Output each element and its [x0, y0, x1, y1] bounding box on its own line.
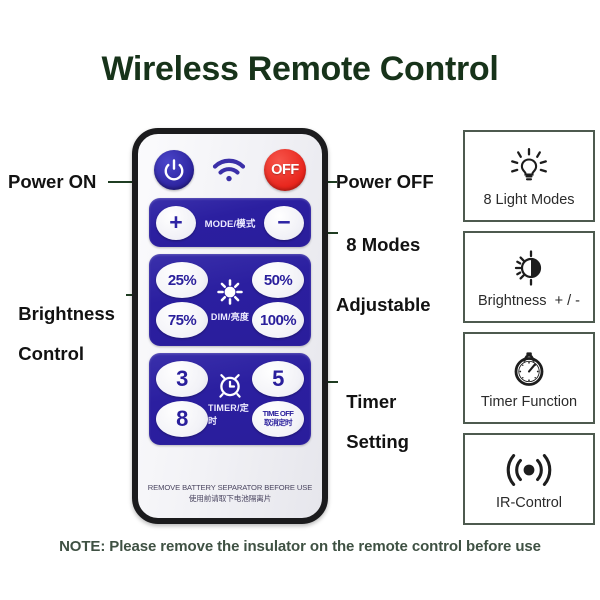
timer-button-8[interactable]: 8: [156, 401, 208, 437]
brightness-button-100[interactable]: 100%: [252, 302, 304, 338]
mode-plus-button[interactable]: +: [156, 206, 196, 240]
feature-card-brightness: Brightness + / -: [463, 231, 595, 323]
power-off-button[interactable]: OFF: [264, 149, 306, 191]
brightness-25-label: 25%: [168, 272, 196, 289]
ir-waves-icon: [505, 446, 553, 494]
remote-footer-line2: 使用前请取下电池隔离片: [189, 494, 271, 503]
mode-panel-label: MODE/模式: [205, 216, 256, 230]
feature-card-light-modes: 8 Light Modes: [463, 130, 595, 222]
callout-timer-line1: Timer: [346, 391, 396, 412]
mode-panel: + MODE/模式 −: [149, 198, 311, 247]
callout-modes-line2: Adjustable: [336, 295, 431, 315]
power-icon: [163, 159, 185, 181]
remote-footer-text: REMOVE BATTERY SEPARATOR BEFORE USE 使用前请…: [138, 482, 322, 504]
brightness-panel: 25%: [149, 254, 311, 346]
stopwatch-icon: [507, 345, 551, 393]
brightness-panel-center: DIM/亮度: [208, 278, 252, 323]
mode-plus-label: +: [169, 213, 182, 231]
time-off-label-line2: 取消定时: [264, 418, 292, 427]
brightness-button-25[interactable]: 25%: [156, 262, 208, 298]
feature-card-timer: Timer Function: [463, 332, 595, 424]
callout-brightness-control: Brightness Control: [8, 284, 115, 364]
brightness-75-label: 75%: [168, 312, 196, 329]
feature-cards: 8 Light Modes Brightness + / -: [463, 130, 595, 534]
half-brightness-icon: [507, 244, 551, 292]
timer-panel-center: TIMER/定时: [208, 371, 252, 427]
timer-button-time-off[interactable]: TIME OFF 取消定时: [252, 401, 304, 437]
remote-control-body: OFF + MODE/模式 − 25%: [132, 128, 328, 524]
time-off-label-block: TIME OFF 取消定时: [263, 410, 294, 427]
remote-footer-line1: REMOVE BATTERY SEPARATOR BEFORE USE: [148, 483, 312, 492]
sun-icon: [215, 278, 245, 308]
callout-power-on: Power ON: [8, 172, 96, 192]
lightbulb-rays-icon: [507, 143, 551, 191]
mode-minus-label: −: [277, 213, 290, 231]
callout-modes-line1: 8 Modes: [346, 234, 420, 255]
feature-card-brightness-label: Brightness + / -: [478, 293, 580, 309]
alarm-clock-icon: [215, 371, 245, 399]
feature-card-ir-control: IR-Control: [463, 433, 595, 525]
power-on-button[interactable]: [154, 150, 194, 190]
feature-card-light-modes-label: 8 Light Modes: [483, 192, 574, 208]
page-title: Wireless Remote Control: [0, 50, 600, 89]
feature-card-ir-control-label: IR-Control: [496, 495, 562, 511]
callout-modes-adjustable: 8 Modes Adjustable: [336, 215, 431, 335]
callout-brightness-line2: Control: [18, 343, 84, 364]
timer-button-5[interactable]: 5: [252, 361, 304, 397]
timer-panel-label: TIMER/定时: [208, 401, 252, 427]
brightness-100-label: 100%: [260, 312, 296, 329]
timer-3-label: 3: [176, 366, 188, 392]
callout-brightness-line1: Brightness: [18, 303, 115, 324]
brightness-panel-label: DIM/亮度: [211, 310, 249, 323]
timer-5-label: 5: [272, 366, 284, 392]
timer-button-3[interactable]: 3: [156, 361, 208, 397]
feature-card-timer-label: Timer Function: [481, 394, 577, 410]
callout-power-off: Power OFF: [336, 172, 434, 192]
brightness-button-75[interactable]: 75%: [156, 302, 208, 338]
remote-top-row: OFF: [149, 144, 311, 196]
callout-timer-line2: Setting: [346, 431, 409, 452]
timer-8-label: 8: [176, 406, 188, 432]
wifi-icon: [212, 157, 246, 183]
brightness-50-label: 50%: [264, 272, 292, 289]
off-button-label: OFF: [271, 162, 299, 178]
time-off-label-line1: TIME OFF: [263, 409, 294, 418]
bottom-note: NOTE: Please remove the insulator on the…: [0, 538, 600, 555]
brightness-button-50[interactable]: 50%: [252, 262, 304, 298]
callout-timer-setting: Timer Setting: [336, 372, 409, 452]
timer-panel: 3 TIMER/定时: [149, 353, 311, 445]
mode-minus-button[interactable]: −: [264, 206, 304, 240]
